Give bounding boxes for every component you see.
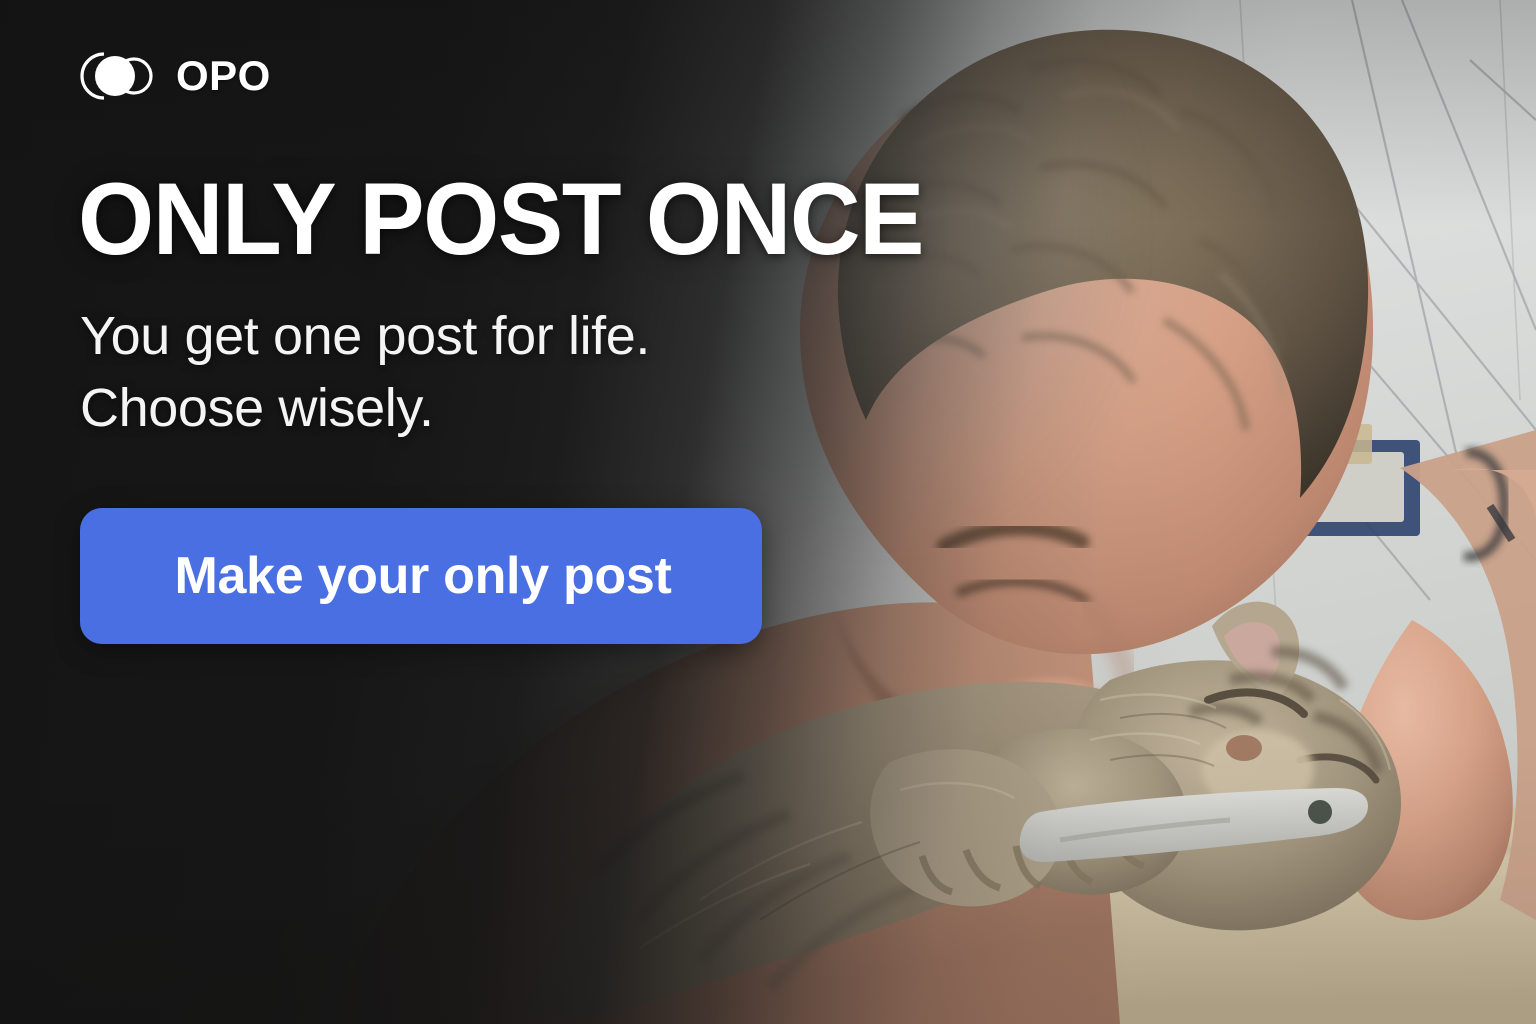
brand-logo[interactable]: OPO [80,48,271,104]
hero-subtitle: You get one post for life. Choose wisely… [80,300,650,445]
eclipse-circles-icon [80,48,162,104]
subtitle-line-1: You get one post for life. [80,300,650,372]
brand-name: OPO [176,55,271,97]
hero-banner: OPO ONLY POST ONCE You get one post for … [0,0,1536,1024]
subtitle-line-2: Choose wisely. [80,372,650,444]
page-title: ONLY POST ONCE [78,168,923,270]
make-your-only-post-button[interactable]: Make your only post [80,508,762,644]
